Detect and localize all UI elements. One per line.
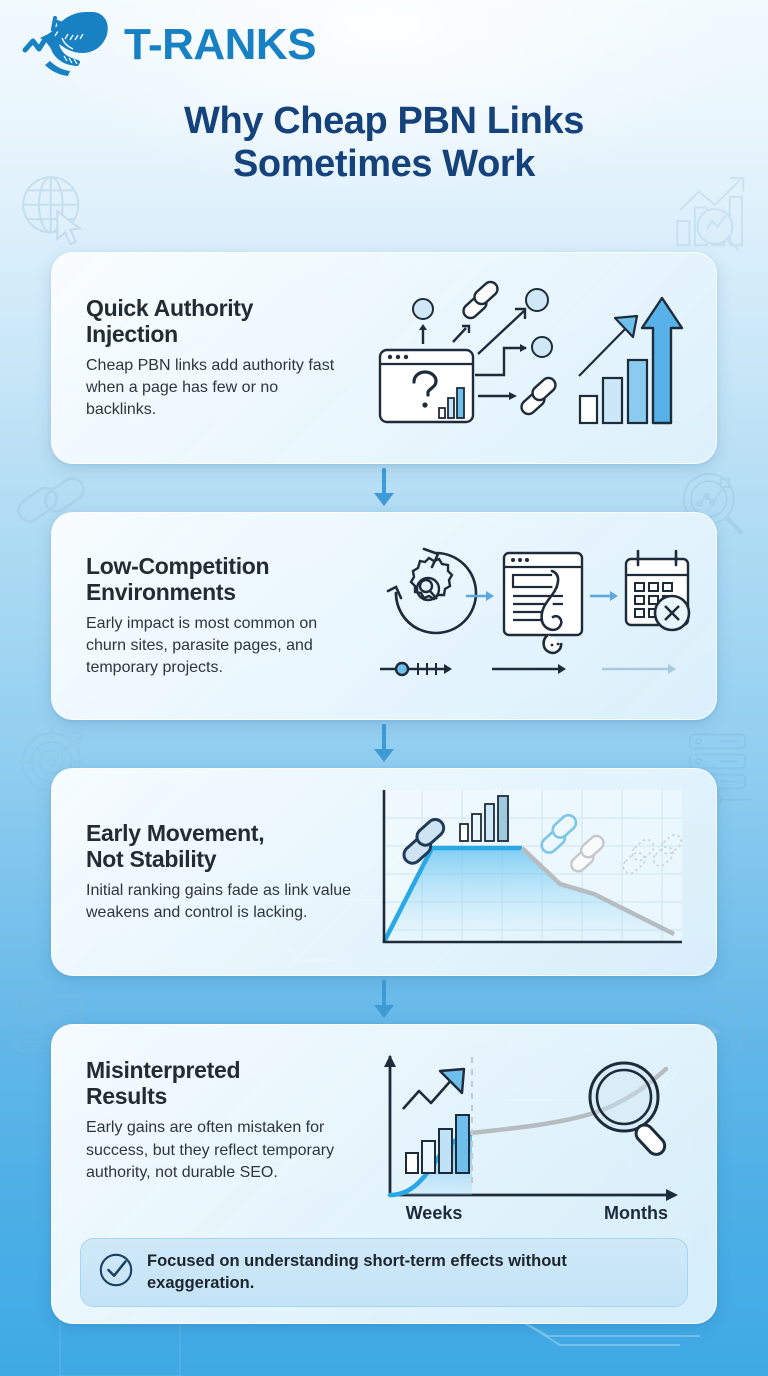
browser-question-links-growth-bars-illustration-icon <box>374 278 694 438</box>
card-text: Low-Competition Environments Early impac… <box>52 531 352 702</box>
page-title: Why Cheap PBN Links Sometimes Work <box>0 100 768 185</box>
check-circle-icon <box>97 1251 135 1294</box>
card-title: Low-Competition Environments <box>86 553 352 605</box>
card-quick-authority-injection[interactable]: Quick Authority Injection Cheap PBN link… <box>51 252 717 464</box>
cards-list: Quick Authority Injection Cheap PBN link… <box>0 252 768 1324</box>
card-body: Early gains are often mistaken for succe… <box>86 1117 352 1183</box>
connector-2 <box>51 720 717 768</box>
card-chart-perceived-growth: Weeks Months <box>352 1025 716 1235</box>
card-title: Early Movement, Not Stability <box>86 820 352 872</box>
card-text: Misinterpreted Results Early gains are o… <box>52 1025 352 1206</box>
page-title-line2: Sometimes Work <box>60 143 708 186</box>
card-early-movement-not-stability[interactable]: Early Movement, Not Stability Initial ra… <box>51 768 717 976</box>
card-body: Cheap PBN links add authority fast when … <box>86 355 352 421</box>
footnote-banner: Focused on understanding short-term effe… <box>80 1238 688 1307</box>
card-chart-ranking-decay <box>352 786 716 958</box>
card-text: Quick Authority Injection Cheap PBN link… <box>52 273 352 444</box>
card-illustration <box>352 278 716 438</box>
gear-refresh-webpage-calendar-flow-illustration-icon <box>374 541 694 691</box>
arrow-down-icon <box>371 724 397 764</box>
card-misinterpreted-results[interactable]: Misinterpreted Results Early gains are o… <box>51 1024 717 1324</box>
trex-head-growth-arrow-logo-icon <box>14 8 122 82</box>
arrow-down-icon <box>371 468 397 508</box>
connector-3 <box>51 976 717 1024</box>
brand-name: T-RANKS <box>124 20 316 70</box>
card-illustration <box>352 541 716 691</box>
weeks-months-growth-curve-with-magnifier-icon: Weeks Months <box>374 1045 694 1235</box>
infographic-page: T-RANKS Why Cheap PBN Links Sometimes Wo… <box>0 0 768 1376</box>
x-axis-label-months: Months <box>604 1203 668 1223</box>
brand-logo[interactable]: T-RANKS <box>14 8 316 82</box>
arrow-down-icon <box>371 980 397 1020</box>
rise-plateau-decline-chart-with-fading-links-icon <box>374 786 694 958</box>
page-title-line1: Why Cheap PBN Links <box>60 100 708 143</box>
card-title: Quick Authority Injection <box>86 295 352 347</box>
x-axis-label-weeks: Weeks <box>406 1203 463 1223</box>
card-body: Early impact is most common on churn sit… <box>86 613 352 679</box>
card-low-competition-environments[interactable]: Low-Competition Environments Early impac… <box>51 512 717 720</box>
card-body: Initial ranking gains fade as link value… <box>86 880 352 924</box>
card-title: Misinterpreted Results <box>86 1057 352 1109</box>
footnote-text: Focused on understanding short-term effe… <box>147 1251 567 1293</box>
card-text: Early Movement, Not Stability Initial ra… <box>52 798 352 947</box>
connector-1 <box>51 464 717 512</box>
